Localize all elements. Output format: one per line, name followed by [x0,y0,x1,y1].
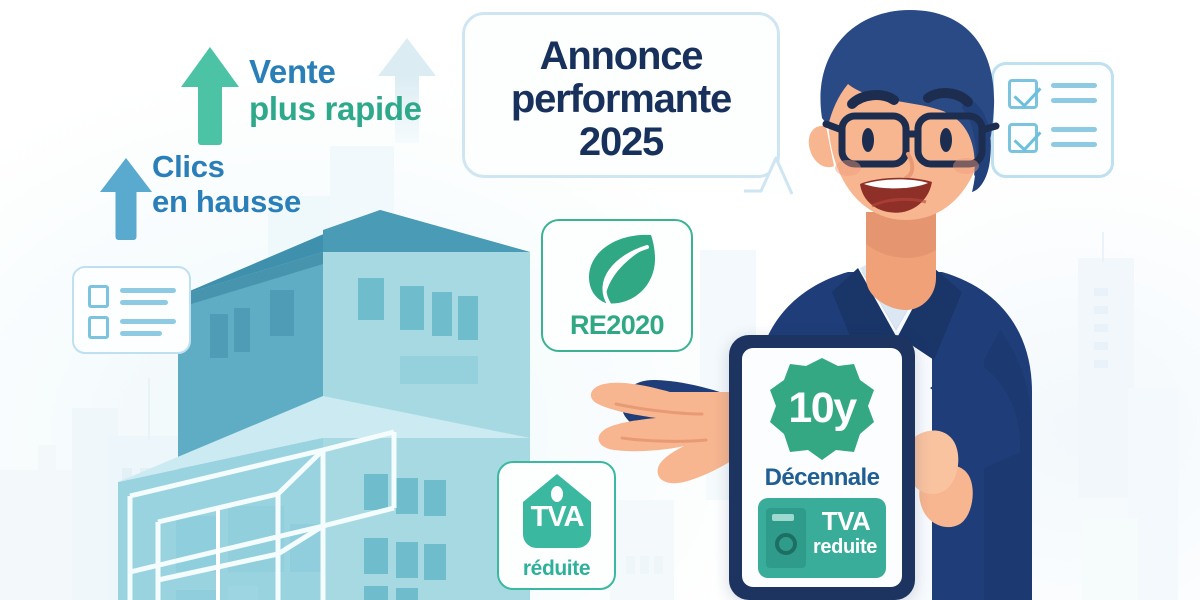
metric-vente-line2: plus rapide [249,91,422,128]
arrow-up-green [181,47,239,145]
tva-reduite-block[interactable]: TVA reduite [758,498,886,578]
tva-block-line2: reduite [806,536,884,559]
metric-label-vente: Vente plus rapide [249,54,422,128]
tva-block-line1: TVA [810,506,882,537]
metric-clics-line1: Clics [152,150,301,185]
arrow-up-blue [100,158,152,240]
metric-vente-line1: Vente [249,54,422,91]
document-icon [764,506,808,575]
list-line-2a [120,319,176,324]
list-line-1b [120,300,168,305]
tablet-device[interactable]: 10y Décennale TVA reduite [729,335,915,600]
list-checkbox-2[interactable] [88,316,109,339]
list-checkbox-1[interactable] [88,285,109,308]
tablet-screen[interactable]: 10y Décennale TVA reduite [742,348,902,587]
list-card[interactable] [72,266,191,354]
marketing-illustration-scene: Vente plus rapide Clics en hausse Annonc… [0,0,1200,600]
list-line-2b [120,331,162,336]
list-line-1a [120,288,176,293]
decennale-label: Décennale [742,464,902,492]
metric-label-clics: Clics en hausse [152,150,301,219]
metric-clics-line2: en hausse [152,185,301,220]
guarantee-value: 10y [766,384,878,433]
building-illustration [118,186,530,600]
